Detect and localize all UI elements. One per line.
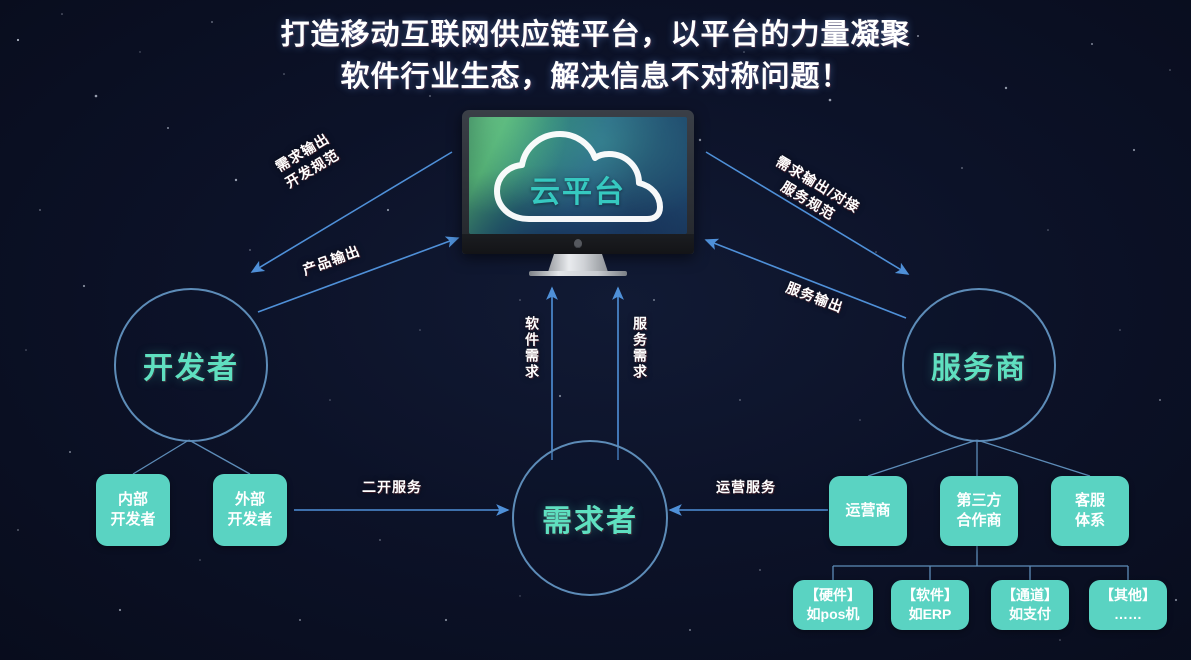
label-software-demand: 软件需求 bbox=[522, 316, 541, 380]
box-others[interactable]: 【其他】 …… bbox=[1089, 580, 1167, 630]
edge-service-cs bbox=[977, 440, 1090, 476]
node-demander[interactable]: 需求者 bbox=[512, 440, 668, 596]
diagram-canvas: 打造移动互联网供应链平台，以平台的力量凝聚 软件行业生态，解决信息不对称问题！ bbox=[0, 0, 1191, 660]
edge-developer-external bbox=[189, 440, 250, 474]
box-customer-service-system[interactable]: 客服 体系 bbox=[1051, 476, 1129, 546]
box-third-party-partner[interactable]: 第三方 合作商 bbox=[940, 476, 1018, 546]
monitor-stand-neck bbox=[548, 254, 608, 272]
label-secondary-dev-service: 二开服务 bbox=[362, 478, 422, 497]
cloud-platform-monitor: 云平台 bbox=[462, 110, 694, 275]
edge-developer-internal bbox=[133, 440, 189, 474]
box-operator[interactable]: 运营商 bbox=[829, 476, 907, 546]
monitor-stand-foot bbox=[529, 271, 627, 276]
box-channel[interactable]: 【通道】 如支付 bbox=[991, 580, 1069, 630]
node-service-provider[interactable]: 服务商 bbox=[902, 288, 1056, 442]
box-software[interactable]: 【软件】 如ERP bbox=[891, 580, 969, 630]
node-developer[interactable]: 开发者 bbox=[114, 288, 268, 442]
apple-logo-icon bbox=[574, 239, 582, 248]
cloud-platform-label: 云平台 bbox=[483, 167, 673, 211]
edge-service-operator bbox=[868, 440, 977, 476]
edge-service-to-cloud bbox=[706, 240, 906, 318]
imac-monitor-icon: 云平台 bbox=[462, 110, 694, 254]
label-service-demand: 服务需求 bbox=[630, 316, 649, 380]
edge-partner-bracket bbox=[833, 546, 1128, 580]
box-external-developer[interactable]: 外部 开发者 bbox=[213, 474, 287, 546]
label-operation-service: 运营服务 bbox=[716, 478, 776, 497]
box-hardware[interactable]: 【硬件】 如pos机 bbox=[793, 580, 873, 630]
monitor-screen: 云平台 bbox=[469, 117, 687, 234]
cloud-shape-icon: 云平台 bbox=[483, 123, 673, 231]
box-internal-developer[interactable]: 内部 开发者 bbox=[96, 474, 170, 546]
